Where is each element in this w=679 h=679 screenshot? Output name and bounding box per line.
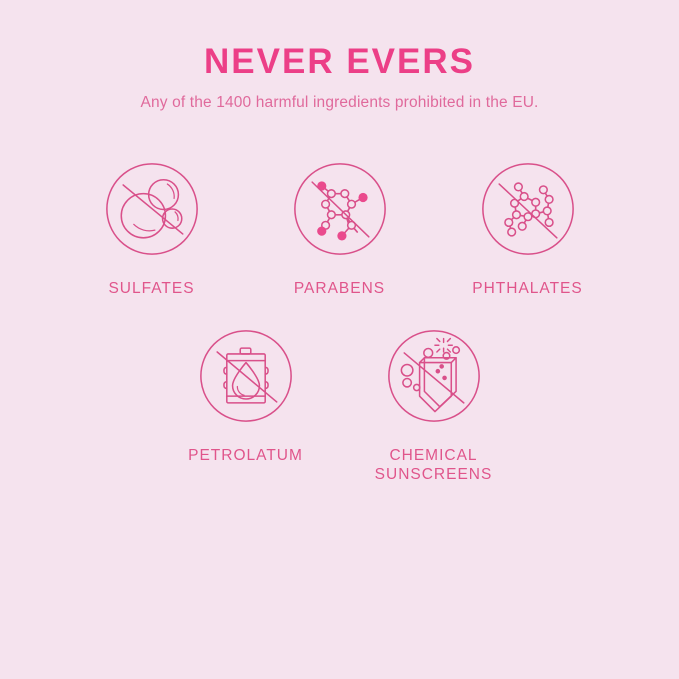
grid-row-2: PETROLATUM	[0, 328, 679, 485]
grid-item-petrolatum: PETROLATUM	[152, 328, 340, 485]
grid-item-parabens: PARABENS	[246, 161, 434, 298]
never-evers-grid: SULFATES	[0, 161, 679, 485]
no-parabens-icon	[292, 161, 388, 257]
page-title: NEVER EVERS	[0, 44, 679, 79]
grid-item-label: SULFATES	[108, 279, 194, 298]
no-petrolatum-icon	[198, 328, 294, 424]
grid-item-label: PHTHALATES	[472, 279, 583, 298]
no-chemical-sunscreens-icon	[386, 328, 482, 424]
header: NEVER EVERS Any of the 1400 harmful ingr…	[0, 44, 679, 113]
grid-item-sulfates: SULFATES	[58, 161, 246, 298]
grid-item-label: CHEMICAL SUNSCREENS	[375, 446, 493, 485]
no-phthalates-icon	[480, 161, 576, 257]
never-evers-panel: NEVER EVERS Any of the 1400 harmful ingr…	[0, 0, 679, 679]
grid-item-label: PARABENS	[294, 279, 385, 298]
page-subtitle: Any of the 1400 harmful ingredients proh…	[0, 94, 679, 113]
grid-item-phthalates: PHTHALATES	[434, 161, 622, 298]
grid-row-1: SULFATES	[0, 161, 679, 298]
grid-item-label: PETROLATUM	[188, 446, 303, 465]
grid-item-chemical-sunscreens: CHEMICAL SUNSCREENS	[340, 328, 528, 485]
no-sulfates-icon	[104, 161, 200, 257]
